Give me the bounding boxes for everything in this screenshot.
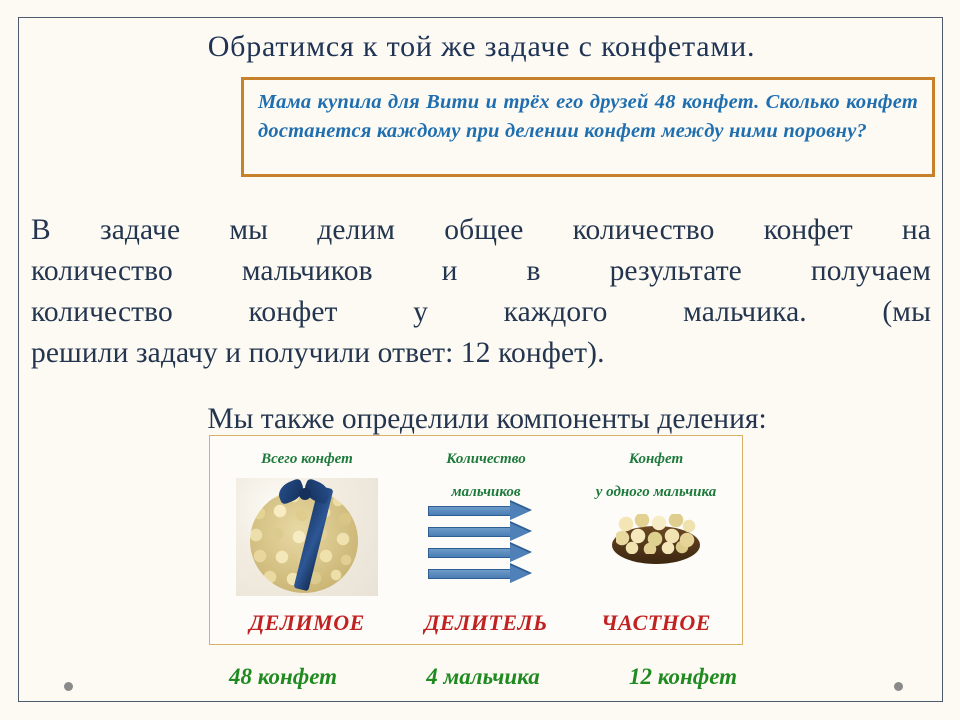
candy-plate-photo [608,510,704,568]
candy-ball-photo [236,478,378,596]
diagram-column-divisor: Количество мальчиков ДЕЛИТЕЛЬ [400,436,572,644]
body-line: В задаче мы делим общее количество конфе… [31,210,931,251]
answer-quotient: 12 конфет [629,664,737,690]
division-components-diagram: Всего конфет ДЕЛИМОЕ Количество мальчико… [209,435,743,645]
column-header-dividend: Всего конфет [214,436,400,469]
arrow-right-icon [428,525,536,538]
column-header-quotient-line2: у одного мальчика [572,469,740,502]
page-title: Обратимся к той же задаче с конфетами. [19,30,944,64]
ribbon-knot-icon [299,488,311,500]
body-paragraph: В задаче мы делим общее количество конфе… [31,210,931,374]
body-line: количество мальчиков и в результате полу… [31,251,931,292]
column-footer-quotient: ЧАСТНОЕ [572,610,740,636]
body-line: решили задачу и получили ответ: 12 конфе… [31,333,931,374]
answer-dividend: 48 конфет [229,664,337,690]
decorative-dot-left-icon [64,682,73,691]
arrow-right-icon [428,546,536,559]
column-header-divisor-line2: мальчиков [400,469,572,502]
diagram-column-quotient: Конфет у одного мальчика ЧАСТНОЕ [572,436,740,644]
arrow-right-icon [428,567,536,580]
body-line: количество конфет у каждого мальчика. (м… [31,292,931,333]
lead-in-line: Мы также определили компоненты деления: [31,403,943,436]
slide-frame: Обратимся к той же задаче с конфетами. М… [18,17,943,702]
task-statement-box: Мама купила для Вити и трёх его друзей 4… [241,77,935,177]
column-header-divisor-line1: Количество [400,436,572,469]
decorative-dot-right-icon [894,682,903,691]
four-arrows-group [428,504,546,588]
candy-pile-shape [616,514,696,554]
answer-divisor: 4 мальчика [426,664,539,690]
arrow-right-icon [428,504,536,517]
answer-row: 48 конфет 4 мальчика 12 конфет [209,664,743,690]
column-header-quotient-line1: Конфет [572,436,740,469]
task-statement-text: Мама купила для Вити и трёх его друзей 4… [258,88,918,146]
column-footer-divisor: ДЕЛИТЕЛЬ [400,610,572,636]
column-footer-dividend: ДЕЛИМОЕ [214,610,400,636]
diagram-column-dividend: Всего конфет ДЕЛИМОЕ [214,436,400,644]
